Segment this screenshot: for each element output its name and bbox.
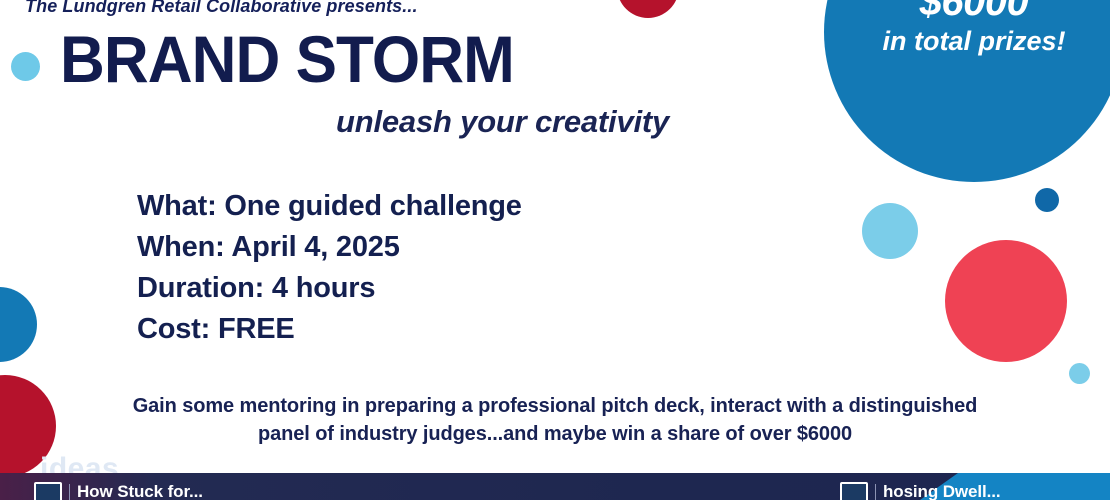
prize-amount: $6000	[920, 0, 1029, 22]
detail-what: What: One guided challenge	[137, 186, 522, 227]
footer-right-label: hosing Dwell...	[883, 482, 1001, 500]
detail-duration: Duration: 4 hours	[137, 268, 522, 309]
presenter-line: The Lundgren Retail Collaborative presen…	[25, 0, 418, 17]
event-details-list: What: One guided challenge When: April 4…	[137, 186, 522, 350]
description-paragraph: Gain some mentoring in preparing a profe…	[105, 392, 1005, 448]
decorative-circle-lightblue-small-right	[1069, 363, 1090, 384]
tagline: unleash your creativity	[336, 104, 669, 140]
decorative-circle-lightblue-left	[11, 52, 40, 81]
screen-icon	[840, 482, 868, 500]
decorative-circle-red-right	[945, 240, 1067, 362]
promotional-poster: $6000 in total prizes! The Lundgren Reta…	[0, 0, 1110, 500]
decorative-circle-blue-left	[0, 287, 37, 362]
footer-left-label: How Stuck for...	[77, 482, 203, 500]
decorative-circle-blue-small-right	[1035, 188, 1059, 212]
screen-icon	[34, 482, 62, 500]
detail-cost: Cost: FREE	[137, 309, 522, 350]
footer-divider	[69, 484, 70, 500]
prize-badge: $6000 in total prizes!	[824, 0, 1110, 182]
prize-caption: in total prizes!	[882, 26, 1065, 57]
footer-right-item[interactable]: hosing Dwell...	[840, 482, 1001, 500]
decorative-circle-crimson-top	[617, 0, 679, 18]
footer-bar: How Stuck for... hosing Dwell...	[0, 473, 1110, 500]
footer-divider	[875, 484, 876, 500]
page-title: BRAND STORM	[60, 26, 514, 92]
footer-left-item[interactable]: How Stuck for...	[34, 482, 203, 500]
detail-when: When: April 4, 2025	[137, 227, 522, 268]
decorative-circle-lightblue-right	[862, 203, 918, 259]
